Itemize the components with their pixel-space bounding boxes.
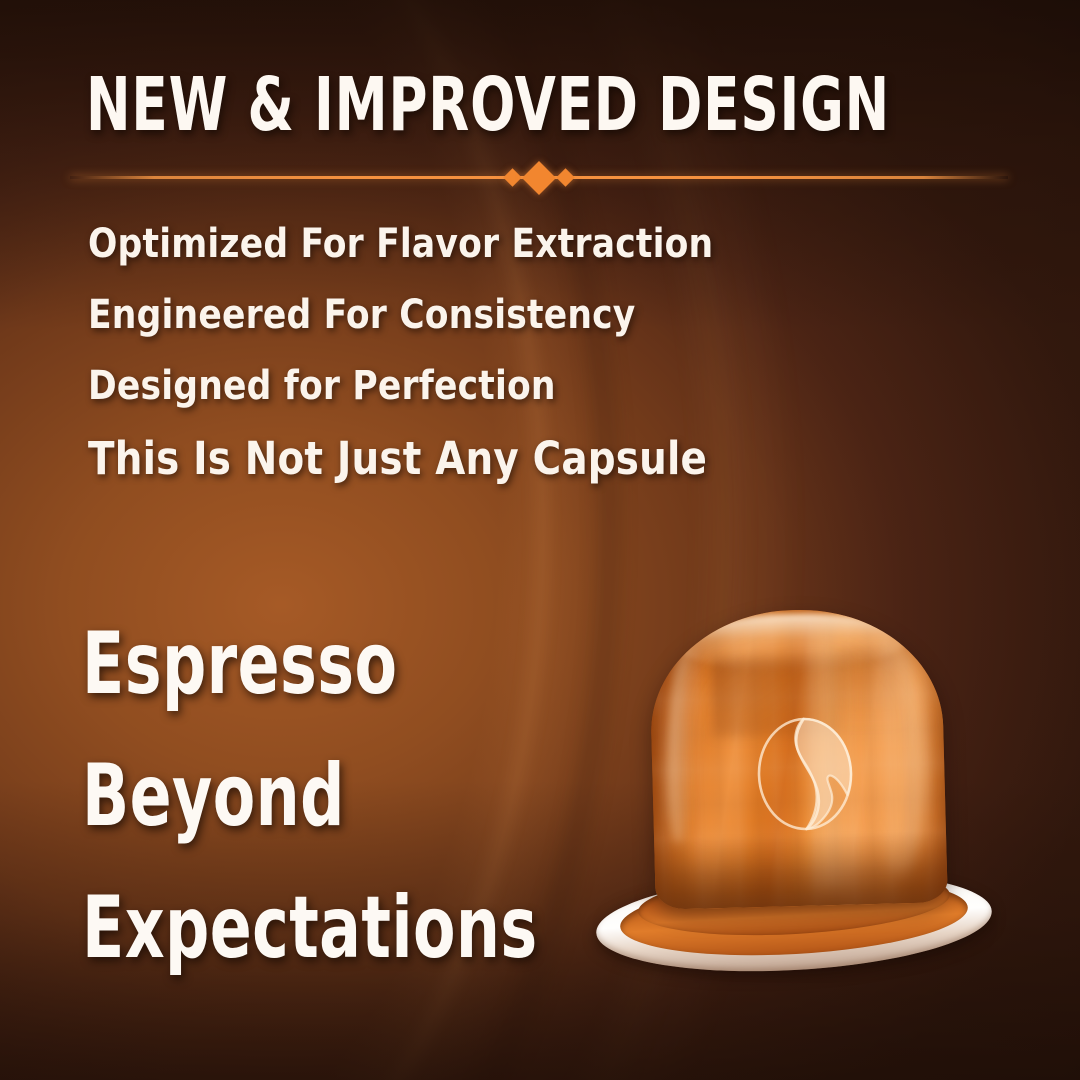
tagline-line-1: Espresso — [82, 598, 578, 730]
coffee-capsule-image — [586, 586, 1000, 976]
diamond-right-icon — [556, 168, 574, 186]
page-title: NEW & IMPROVED DESIGN — [86, 68, 806, 142]
feature-item-1: Optimized For Flavor Extraction — [88, 209, 914, 280]
feature-item-4: This Is Not Just Any Capsule — [88, 422, 914, 496]
capsule-bottom-shade — [654, 830, 948, 910]
promo-poster: NEW & IMPROVED DESIGN Optimized For Flav… — [0, 0, 1080, 1080]
coffee-bean-flame-logo-icon — [752, 715, 857, 834]
diamond-center-icon — [522, 161, 556, 195]
feature-item-3: Designed for Perfection — [88, 351, 914, 422]
tagline-line-2: Beyond — [82, 730, 578, 862]
feature-item-2: Engineered For Consistency — [88, 280, 914, 351]
divider — [70, 165, 1008, 191]
feature-list: Optimized For Flavor Extraction Engineer… — [88, 209, 948, 496]
tagline-line-3: Expectations — [82, 862, 578, 994]
diamond-left-icon — [503, 168, 521, 186]
